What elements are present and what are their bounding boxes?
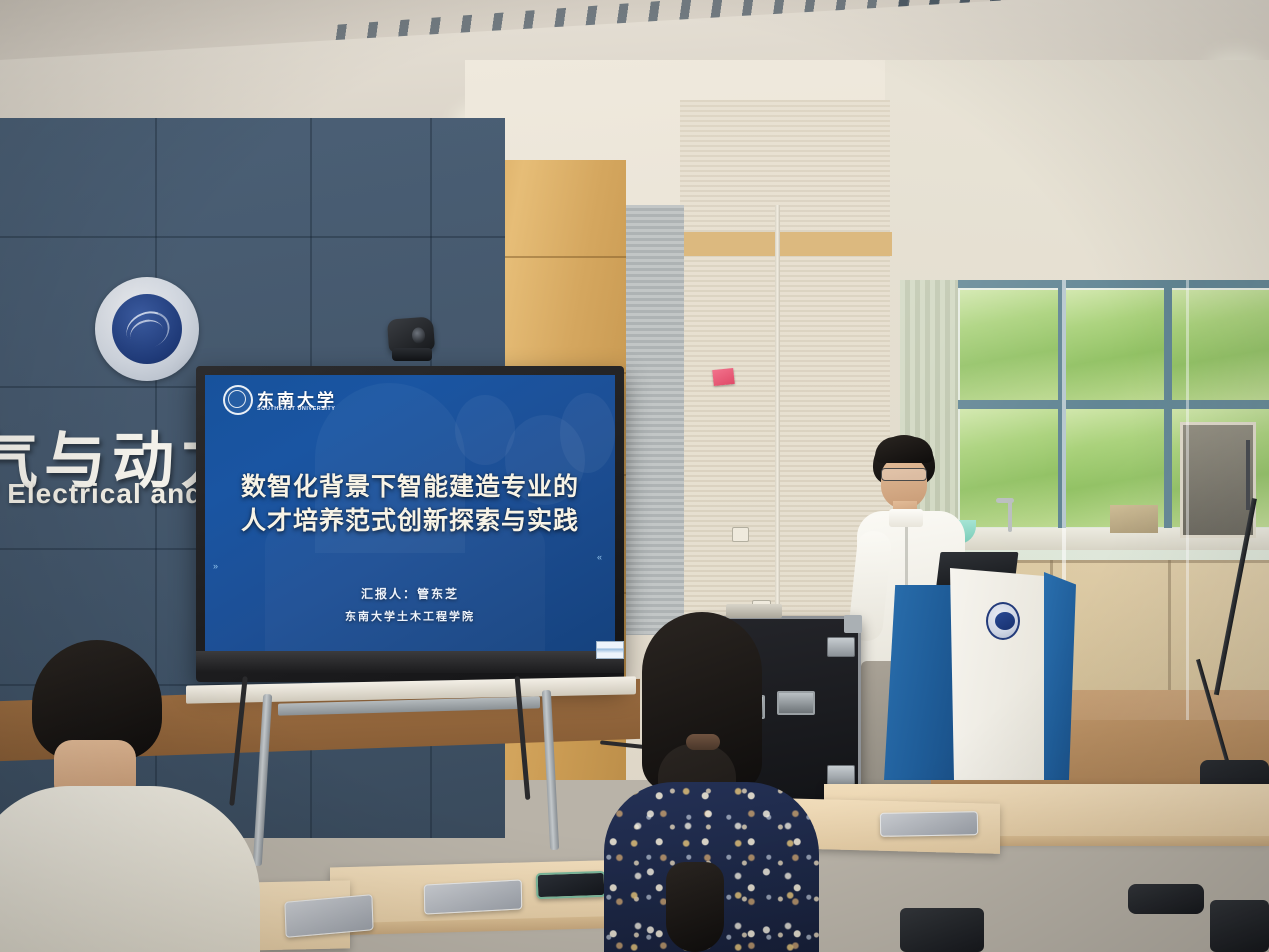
case-latch-bottom-right: [827, 765, 855, 785]
attendee-center-ponytail-tip: [666, 862, 724, 952]
lectern-front-panel: [950, 568, 1050, 780]
chair-right-3[interactable]: [1210, 900, 1269, 952]
slide-arrow-left-icon[interactable]: »: [213, 561, 218, 571]
slide-bg-blob-3: [560, 393, 615, 473]
shirt-collar: [889, 509, 923, 527]
smartphone[interactable]: [536, 871, 607, 899]
seu-logo-inner: [228, 390, 246, 408]
wall-conduit-pipe: [775, 205, 780, 625]
chair-right-1[interactable]: [900, 908, 984, 952]
school-emblem-wall: [95, 277, 199, 381]
wall-trim-band: [680, 232, 892, 256]
roller-shutter: [624, 205, 684, 635]
glasses-icon: [881, 468, 927, 481]
interactive-flat-panel-display[interactable]: 东南大学 SOUTHEAST UNIVERSITY 数智化背景下智能建造专业的 …: [196, 366, 624, 682]
chair-right-2[interactable]: [1128, 884, 1204, 914]
slide-affiliation: 东南大学土木工程学院: [205, 608, 615, 624]
wall-power-outlet: [732, 527, 749, 542]
slide-screen: 东南大学 SOUTHEAST UNIVERSITY 数智化背景下智能建造专业的 …: [205, 375, 615, 651]
seu-logo-english: SOUTHEAST UNIVERSITY: [257, 406, 335, 412]
attendee-left-shirt: [0, 786, 260, 952]
slide-title-line2: 人才培养范式创新探索与实践: [205, 506, 615, 537]
camera-lens-icon: [412, 327, 426, 344]
wall-sign-english: of Electrical and: [0, 478, 203, 510]
pink-sticky-note: [712, 368, 735, 386]
attendee-left: [0, 640, 300, 952]
camera-base: [392, 348, 432, 361]
case-corner-tr: [844, 615, 862, 633]
slide-arrow-right-icon[interactable]: «: [597, 552, 602, 562]
slide-title-line1: 数智化背景下智能建造专业的: [205, 472, 615, 503]
tablet-center[interactable]: [424, 879, 523, 914]
glass-mullion-2: [1186, 280, 1189, 720]
mic-stand: [1246, 440, 1250, 510]
case-latch-top-right: [827, 637, 855, 657]
presenter-hair-front: [875, 437, 933, 463]
slide-presenter: 汇报人：管东芝: [205, 585, 615, 602]
lectern-school-emblem: [986, 604, 1020, 638]
tablet-right[interactable]: [880, 811, 978, 837]
photo-scene: 气与动力 of Electrical and: [0, 0, 1269, 952]
lectern-left-panel: [884, 585, 954, 780]
hair-tie: [686, 734, 720, 750]
attendee-center: [600, 612, 825, 952]
